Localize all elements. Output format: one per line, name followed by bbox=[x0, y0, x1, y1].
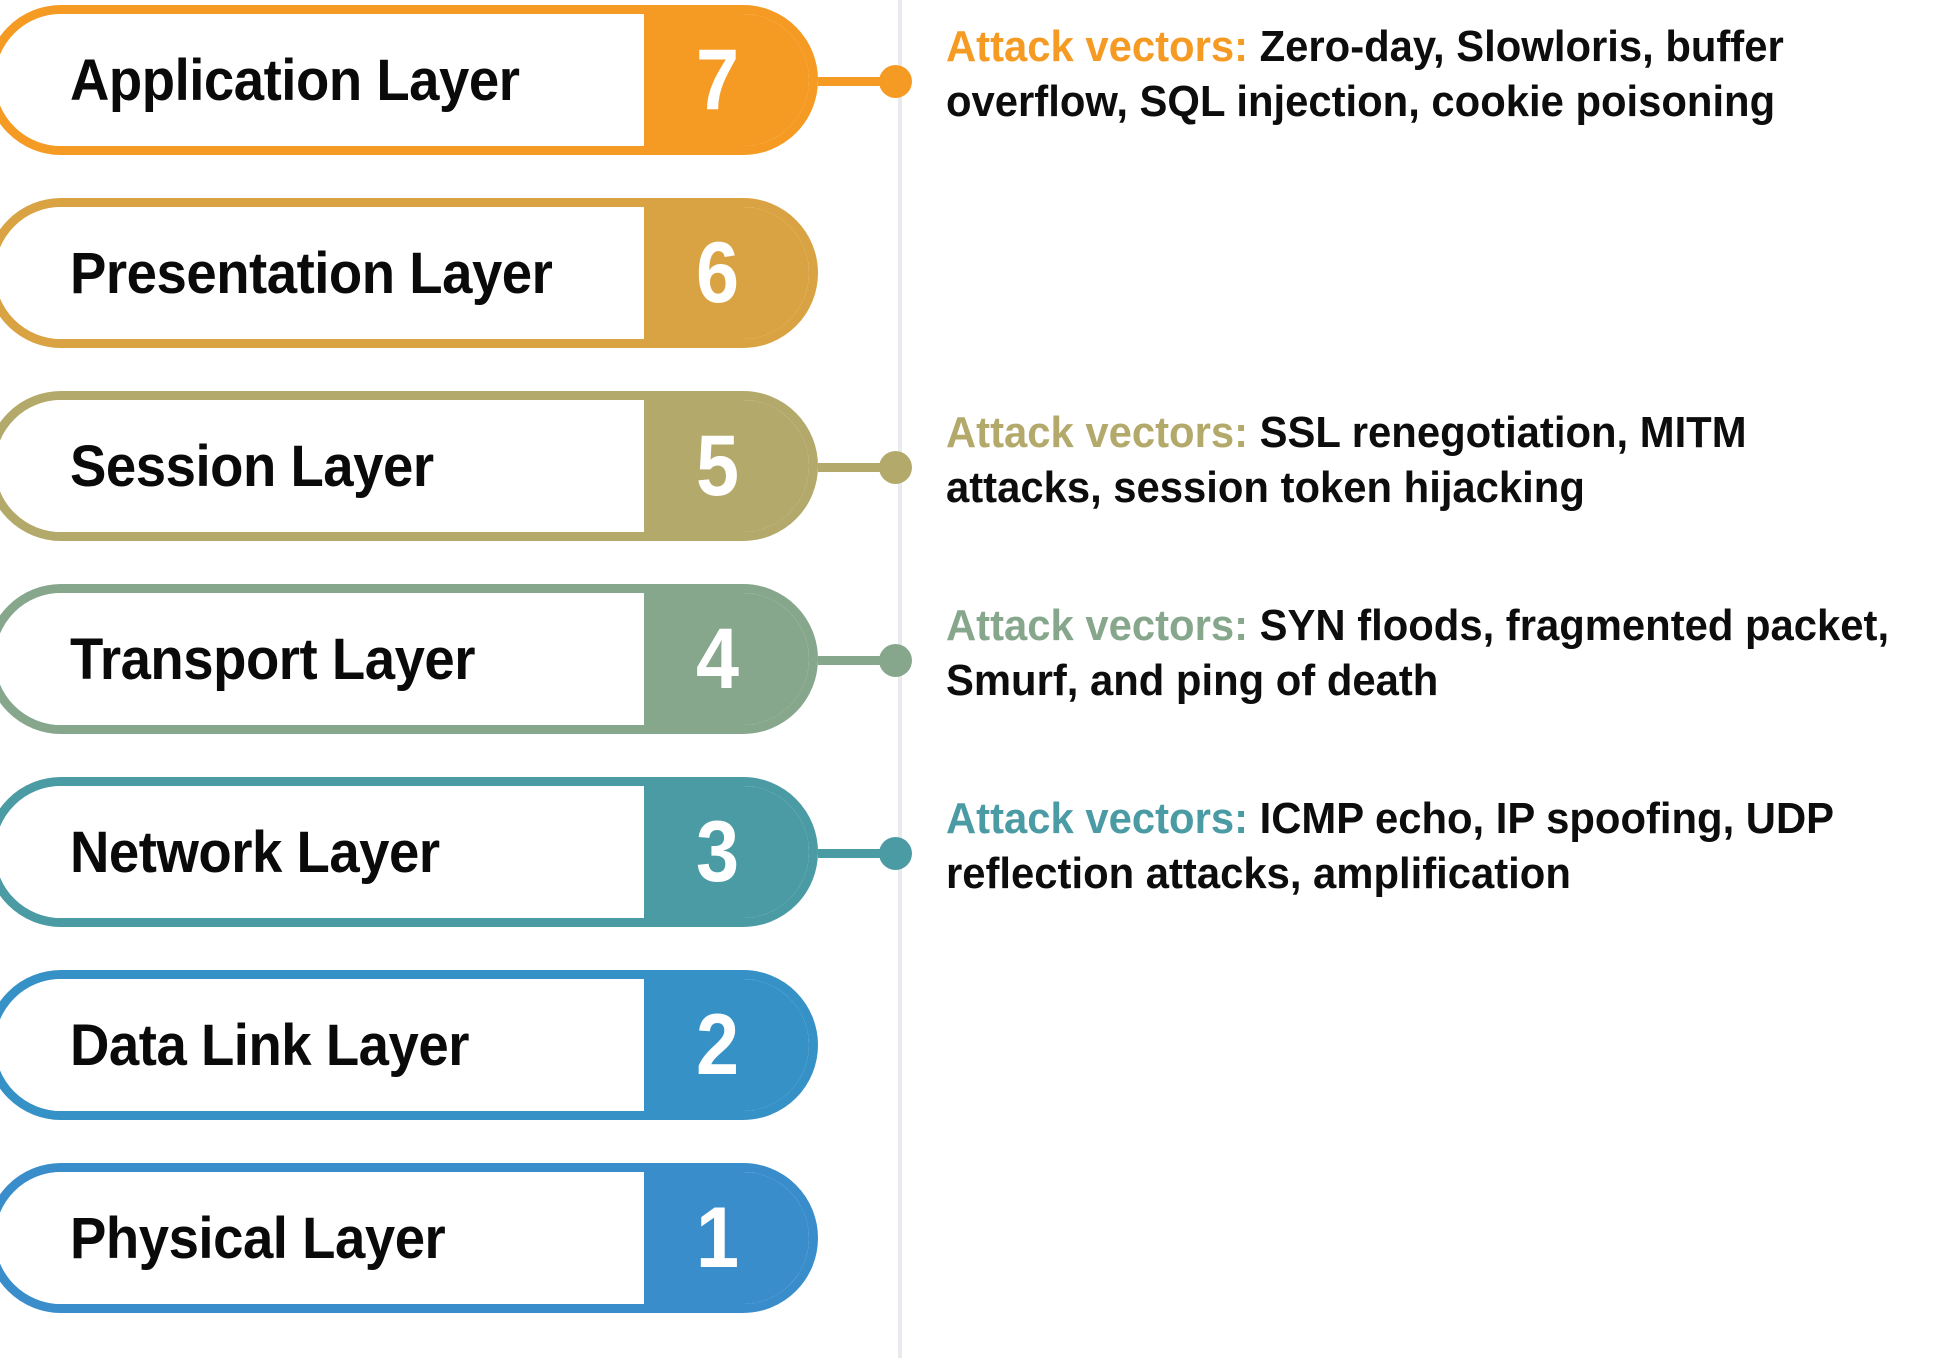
layer-number-label: 2 bbox=[696, 1002, 739, 1088]
layer-number-label: 5 bbox=[696, 423, 739, 509]
layer-number-block: 7 bbox=[644, 5, 818, 155]
layer-name-label: Session Layer bbox=[70, 433, 434, 500]
layer-pill[interactable]: Transport Layer4 bbox=[0, 584, 818, 734]
layer-pill[interactable]: Session Layer5 bbox=[0, 391, 818, 541]
layer-name-area: Application Layer bbox=[0, 14, 644, 146]
layer-name-label: Data Link Layer bbox=[70, 1012, 469, 1079]
layer-number-label: 4 bbox=[696, 616, 739, 702]
layer-number-block: 1 bbox=[644, 1163, 818, 1313]
attack-vectors-label: Attack vectors: bbox=[946, 601, 1248, 650]
layer-pill[interactable]: Data Link Layer2 bbox=[0, 970, 818, 1120]
layer-name-label: Application Layer bbox=[70, 47, 519, 114]
layer-number-label: 7 bbox=[696, 37, 739, 123]
layer-name-label: Presentation Layer bbox=[70, 240, 552, 307]
attack-vectors-annotation: Attack vectors: Zero-day, Slowloris, buf… bbox=[946, 19, 1896, 129]
layer-name-label: Physical Layer bbox=[70, 1205, 445, 1272]
layer-number-block: 3 bbox=[644, 777, 818, 927]
layer-pill[interactable]: Network Layer3 bbox=[0, 777, 818, 927]
layer-pill[interactable]: Physical Layer1 bbox=[0, 1163, 818, 1313]
connector-dot bbox=[879, 451, 912, 484]
layer-pill[interactable]: Presentation Layer6 bbox=[0, 198, 818, 348]
layer-number-block: 4 bbox=[644, 584, 818, 734]
connector-dot bbox=[879, 65, 912, 98]
attack-vectors-label: Attack vectors: bbox=[946, 408, 1248, 457]
layer-number-label: 3 bbox=[696, 809, 739, 895]
connector-dot bbox=[879, 644, 912, 677]
layer-name-area: Transport Layer bbox=[0, 593, 644, 725]
layer-number-label: 6 bbox=[696, 230, 739, 316]
layer-name-label: Transport Layer bbox=[70, 626, 475, 693]
layer-pill[interactable]: Application Layer7 bbox=[0, 5, 818, 155]
layer-number-block: 6 bbox=[644, 198, 818, 348]
osi-layers-diagram: Application Layer7Presentation Layer6Ses… bbox=[0, 0, 1939, 1358]
layer-number-block: 5 bbox=[644, 391, 818, 541]
attack-vectors-annotation: Attack vectors: SYN floods, fragmented p… bbox=[946, 598, 1896, 708]
attack-vectors-label: Attack vectors: bbox=[946, 794, 1248, 843]
layer-name-area: Physical Layer bbox=[0, 1172, 644, 1304]
layer-name-area: Data Link Layer bbox=[0, 979, 644, 1111]
layer-number-block: 2 bbox=[644, 970, 818, 1120]
layer-name-area: Network Layer bbox=[0, 786, 644, 918]
layer-name-area: Presentation Layer bbox=[0, 207, 644, 339]
layer-name-area: Session Layer bbox=[0, 400, 644, 532]
connector-dot bbox=[879, 837, 912, 870]
attack-vectors-annotation: Attack vectors: SSL renegotiation, MITM … bbox=[946, 405, 1896, 515]
attack-vectors-label: Attack vectors: bbox=[946, 22, 1248, 71]
attack-vectors-annotation: Attack vectors: ICMP echo, IP spoofing, … bbox=[946, 791, 1896, 901]
layer-number-label: 1 bbox=[696, 1195, 739, 1281]
timeline-divider bbox=[898, 0, 902, 1358]
layer-name-label: Network Layer bbox=[70, 819, 440, 886]
